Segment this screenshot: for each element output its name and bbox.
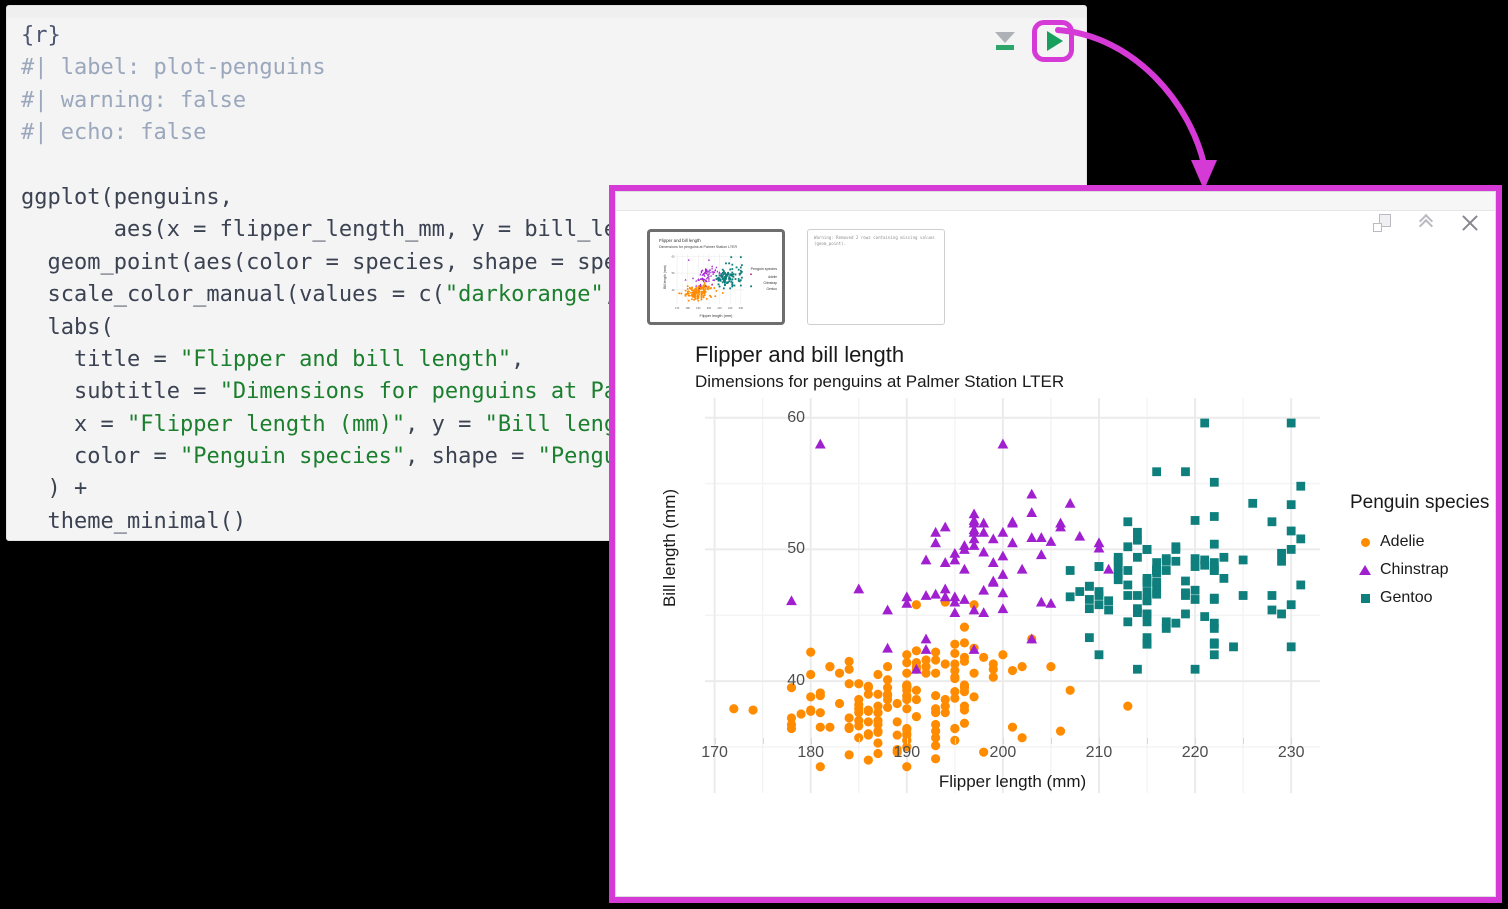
xaxis-tickmark (1147, 738, 1148, 744)
chart-scatter-svg (705, 398, 1320, 793)
svg-text:230: 230 (739, 306, 744, 310)
svg-text:220: 220 (728, 306, 733, 310)
code-cell-top-strip (7, 6, 1086, 18)
xaxis-tick-label: 200 (990, 744, 1017, 762)
plot-pane-controls (1373, 214, 1479, 232)
svg-text:60: 60 (672, 255, 675, 259)
legend-item-gentoo[interactable]: Gentoo (1350, 584, 1496, 612)
thumbnail-warning[interactable]: Warning: Removed 2 rows containing missi… (807, 229, 945, 325)
chart-legend: Penguin species Adelie Chinstrap (1350, 492, 1496, 612)
chart-title: Flipper and bill length (695, 342, 904, 368)
svg-text:50: 50 (672, 271, 675, 275)
chevron-up-icon[interactable] (1417, 214, 1435, 232)
yaxis-tick-label: 40 (787, 672, 805, 690)
popout-icon[interactable] (1373, 214, 1391, 232)
xaxis-tickmark (1051, 738, 1052, 744)
xaxis-tickmark (715, 738, 716, 744)
xaxis-tickmark (1195, 738, 1196, 744)
svg-text:200: 200 (707, 306, 712, 310)
chart-yaxis-label: Bill length (mm) (660, 338, 680, 758)
xaxis-tick-label: 170 (701, 744, 728, 762)
svg-text:210: 210 (717, 306, 722, 310)
output-thumbnail-strip: Flipper and bill length Dimensions for p… (647, 229, 945, 325)
thumbnail-warning-text: Warning: Removed 2 rows containing missi… (814, 235, 939, 247)
plot-pane-titlebar (616, 192, 1495, 211)
thumbnail-plot-preview: Flipper and bill length Dimensions for p… (652, 234, 780, 320)
run-chunk-button-highlight[interactable] (1032, 20, 1074, 62)
xaxis-tick-label: 180 (797, 744, 824, 762)
xaxis-tickmark (763, 738, 764, 744)
legend-item-adelie[interactable]: Adelie (1350, 528, 1496, 556)
yaxis-tick-label: 60 (787, 409, 805, 427)
play-icon (1047, 31, 1063, 51)
xaxis-tickmark (955, 738, 956, 744)
chart-xaxis-label: Flipper length (mm) (705, 772, 1320, 792)
xaxis-tickmark (1243, 738, 1244, 744)
code-chunk-toolbar (992, 20, 1074, 62)
chart-plot-panel (705, 398, 1320, 793)
ggplot-figure: Flipper and bill length Dimensions for p… (638, 342, 1488, 892)
chart-legend-title: Penguin species (1350, 492, 1496, 514)
svg-text:170: 170 (675, 306, 680, 310)
thumbnail-plot[interactable]: Flipper and bill length Dimensions for p… (647, 229, 785, 325)
xaxis-tick-label: 230 (1278, 744, 1305, 762)
xaxis-tick-label: 190 (893, 744, 920, 762)
legend-label-chinstrap: Chinstrap (1380, 561, 1448, 579)
svg-text:40: 40 (672, 288, 675, 292)
legend-key-square (1350, 594, 1380, 603)
legend-key-circle (1350, 538, 1380, 547)
plot-pane-window: Flipper and bill length Dimensions for p… (609, 185, 1502, 903)
xaxis-tickmark (1099, 738, 1100, 744)
xaxis-tickmark (907, 738, 908, 744)
xaxis-tick-label: 220 (1182, 744, 1209, 762)
chart-subtitle: Dimensions for penguins at Palmer Statio… (695, 372, 1064, 392)
svg-text:180: 180 (686, 306, 691, 310)
yaxis-tick-label: 50 (787, 540, 805, 558)
close-icon[interactable] (1461, 214, 1479, 232)
xaxis-tick-label: 210 (1086, 744, 1113, 762)
xaxis-tickmark (1003, 738, 1004, 744)
legend-label-adelie: Adelie (1380, 533, 1424, 551)
popout-front-square (1373, 223, 1382, 232)
legend-label-gentoo: Gentoo (1380, 589, 1432, 607)
plot-pane: Flipper and bill length Dimensions for p… (615, 191, 1496, 897)
xaxis-tickmark (1291, 738, 1292, 744)
run-above-bar (996, 45, 1014, 50)
thumbnail-scatter-svg: 170180190200210220230405060 (652, 234, 785, 325)
xaxis-tickmark (859, 738, 860, 744)
run-above-triangle (995, 32, 1015, 43)
run-all-above-icon[interactable] (992, 28, 1018, 54)
legend-item-chinstrap[interactable]: Chinstrap (1350, 556, 1496, 584)
legend-key-triangle (1350, 565, 1380, 575)
svg-text:190: 190 (696, 306, 701, 310)
xaxis-tickmark (811, 738, 812, 744)
